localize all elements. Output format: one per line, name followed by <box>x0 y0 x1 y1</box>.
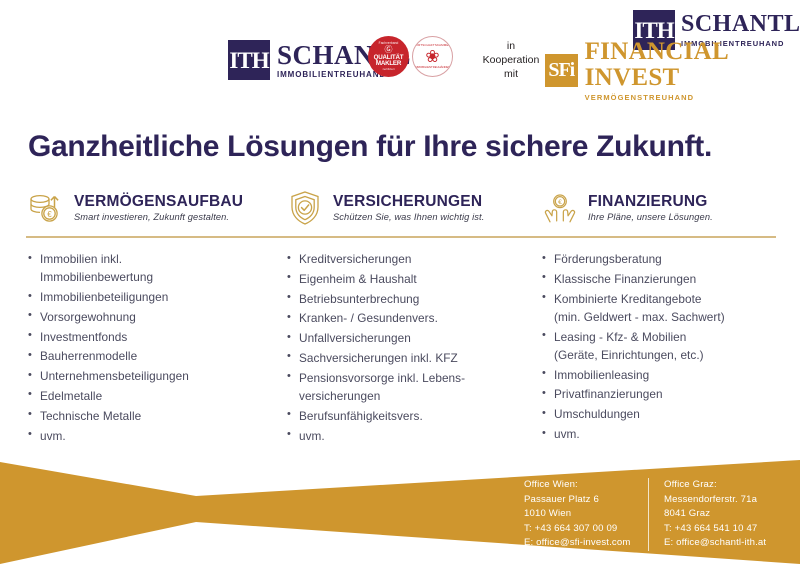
list-item: Kreditversicherungen <box>285 250 526 268</box>
list-item: Unfallversicherungen <box>285 329 526 347</box>
section-title: FINANZIERUNG <box>588 193 713 210</box>
office-street: Messendorferstr. 71a <box>664 493 766 508</box>
shield-check-icon <box>285 188 325 228</box>
list-vermoegensaufbau: Immobilien inkl.Immobilienbewertung Immo… <box>26 250 276 446</box>
austria-crest-seal-icon: WIRTSCHAFTSKAMMER ❀ IMMOBILIENTREUHÄNDER <box>412 36 453 77</box>
office-street: Passauer Platz 6 <box>524 493 648 508</box>
list-item: Edelmetalle <box>26 387 276 405</box>
logo-sfi-financial-invest: SFi FINANCIAL INVEST VERMÖGENSTREUHAND <box>545 39 800 101</box>
list-item: Berufsunfähigkeitsvers. <box>285 407 526 425</box>
list-item: Bauherrenmodelle <box>26 347 276 365</box>
office-graz-contact: Office Graz: Messendorferstr. 71a 8041 G… <box>648 478 766 551</box>
list-item: Förderungsberatung <box>540 250 776 268</box>
list-item: Kranken- / Gesundenvers. <box>285 309 526 327</box>
list-versicherungen: Kreditversicherungen Eigenheim & Haushal… <box>276 250 526 446</box>
sfi-brand-name: FINANCIAL INVEST <box>585 39 800 92</box>
section-subtitle: Smart investieren, Zukunft gestalten. <box>74 212 243 222</box>
list-item: Pensionsvorsorge inkl. Lebens-versicheru… <box>285 369 526 406</box>
list-item: Umschuldungen <box>540 405 776 423</box>
hands-holding-euro-icon: € <box>540 188 580 228</box>
flyer-page: ITH SCHANTL IMMOBILIENTREUHAND ITH SCHAN… <box>0 0 800 564</box>
list-item: Privatfinanzierungen <box>540 385 776 403</box>
list-item: Eigenheim & Haushalt <box>285 270 526 288</box>
office-phone[interactable]: T: +43 664 307 00 09 <box>524 522 648 537</box>
list-item: Immobilien inkl.Immobilienbewertung <box>26 250 276 287</box>
quality-broker-seal-icon: Fachverband Ⓖ QUALITÄT MAKLER zertifizie… <box>368 36 409 77</box>
section-title: VERSICHERUNGEN <box>333 193 484 210</box>
list-item: Leasing - Kfz- & Mobilien(Geräte, Einric… <box>540 328 776 365</box>
svg-text:€: € <box>47 210 52 219</box>
section-finanzierung-header: € FINANZIERUNG Ihre Pläne, unsere Lösung… <box>526 186 776 230</box>
section-title: VERMÖGENSAUFBAU <box>74 193 243 210</box>
page-title: Ganzheitliche Lösungen für Ihre sichere … <box>28 130 712 164</box>
footer-contact-blocks: Office Wien: Passauer Platz 6 1010 Wien … <box>524 478 766 551</box>
service-lists: Immobilien inkl.Immobilienbewertung Immo… <box>26 250 786 446</box>
certification-seals: Fachverband Ⓖ QUALITÄT MAKLER zertifizie… <box>368 36 453 77</box>
coins-euro-growth-icon: € <box>26 188 66 228</box>
list-finanzierung: Förderungsberatung Klassische Finanzieru… <box>526 250 776 446</box>
list-item: Vorsorgewohnung <box>26 308 276 326</box>
ith-brand-name: SCHANTL <box>681 12 800 37</box>
section-versicherungen-header: VERSICHERUNGEN Schützen Sie, was Ihnen w… <box>276 186 526 230</box>
list-item: Betriebsunterbrechung <box>285 290 526 308</box>
cooperation-label: in Kooperation mit <box>479 39 543 82</box>
ith-monogram-icon: ITH <box>228 40 270 80</box>
list-item: Klassische Finanzierungen <box>540 270 776 288</box>
header: ITH SCHANTL IMMOBILIENTREUHAND ITH SCHAN… <box>0 0 800 105</box>
office-name: Office Graz: <box>664 478 766 493</box>
sfi-brand-tagline: VERMÖGENSTREUHAND <box>585 94 800 102</box>
sfi-monogram-icon: SFi <box>545 54 578 87</box>
office-phone[interactable]: T: +43 664 541 10 47 <box>664 522 766 537</box>
office-wien-contact: Office Wien: Passauer Platz 6 1010 Wien … <box>524 478 648 551</box>
list-item: Immobilienleasing <box>540 366 776 384</box>
list-item: Unternehmensbeteiligungen <box>26 367 276 385</box>
gold-divider <box>26 236 776 238</box>
office-name: Office Wien: <box>524 478 648 493</box>
list-item: Immobilienbeteiligungen <box>26 288 276 306</box>
section-vermoegensaufbau-header: € VERMÖGENSAUFBAU Smart investieren, Zuk… <box>26 186 276 230</box>
list-item: Kombinierte Kreditangebote(min. Geldwert… <box>540 290 776 327</box>
section-subtitle: Ihre Pläne, unsere Lösungen. <box>588 212 713 222</box>
service-section-headers: € VERMÖGENSAUFBAU Smart investieren, Zuk… <box>26 186 778 230</box>
list-item: Technische Metalle <box>26 407 276 425</box>
office-city: 8041 Graz <box>664 507 766 522</box>
office-city: 1010 Wien <box>524 507 648 522</box>
section-subtitle: Schützen Sie, was Ihnen wichtig ist. <box>333 212 484 222</box>
list-item: Investmentfonds <box>26 328 276 346</box>
office-email[interactable]: E: office@schantl-ith.at <box>664 536 766 551</box>
list-item: Sachversicherungen inkl. KFZ <box>285 349 526 367</box>
office-email[interactable]: E: office@sfi-invest.com <box>524 536 648 551</box>
svg-text:€: € <box>558 199 562 206</box>
